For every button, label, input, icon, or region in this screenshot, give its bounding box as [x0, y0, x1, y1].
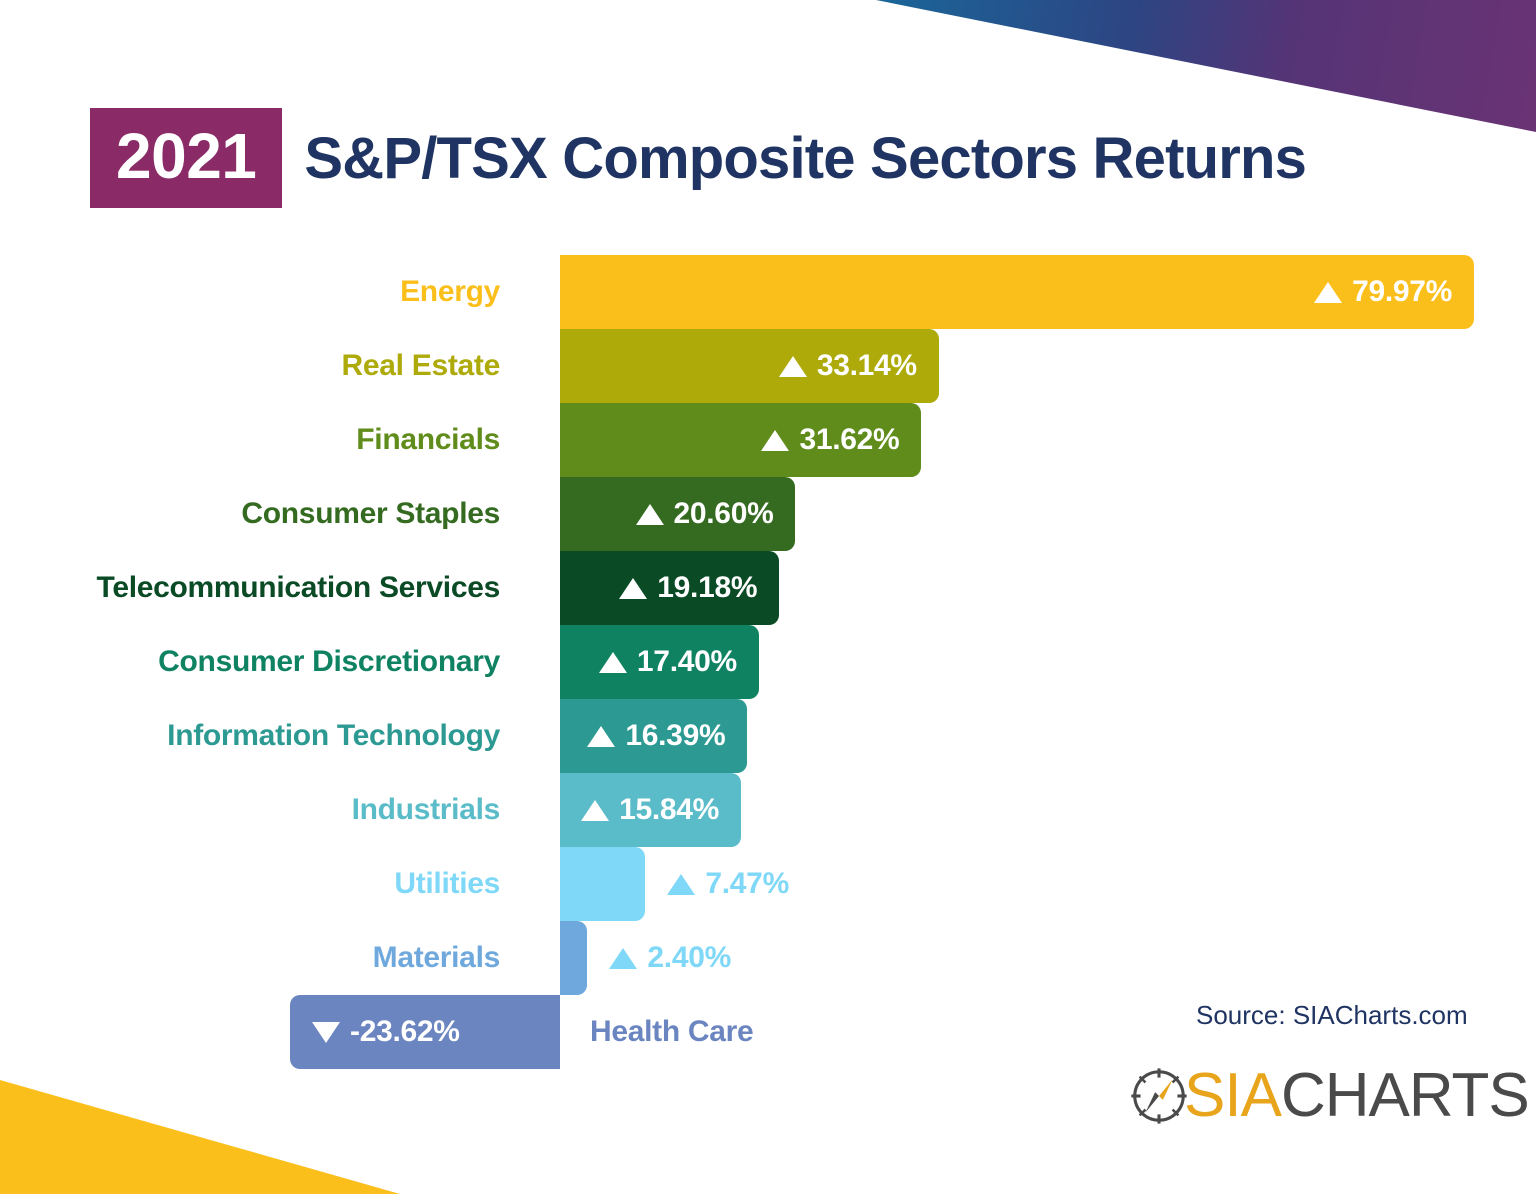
value-bar: 17.40%	[560, 625, 759, 699]
sector-label: Consumer Staples	[241, 477, 530, 551]
bar-row: Consumer Discretionary17.40%	[0, 625, 1536, 699]
bar-row: Real Estate33.14%	[0, 329, 1536, 403]
bar-row: Materials2.40%	[0, 921, 1536, 995]
logo-charts-text: CHARTS	[1281, 1065, 1529, 1127]
sector-label: Telecommunication Services	[97, 551, 530, 625]
triangle-up-icon	[636, 504, 664, 525]
value-text: 79.97%	[1352, 275, 1452, 309]
triangle-up-icon	[779, 356, 807, 377]
siacharts-logo: SIA CHARTS	[1128, 1062, 1529, 1130]
value-text: 17.40%	[637, 645, 737, 679]
value-label: 20.60%	[614, 497, 796, 531]
value-label: 79.97%	[1292, 275, 1474, 309]
value-bar: 33.14%	[560, 329, 939, 403]
year-badge: 2021	[90, 108, 282, 208]
triangle-up-icon	[619, 578, 647, 599]
source-attribution: Source: SIACharts.com	[1196, 1000, 1468, 1031]
bottom-left-yellow-decoration	[0, 1080, 400, 1194]
sector-label: Real Estate	[342, 329, 530, 403]
triangle-up-icon	[1314, 282, 1342, 303]
compass-icon	[1128, 1065, 1190, 1127]
sector-label: Energy	[400, 255, 530, 329]
triangle-up-icon	[599, 652, 627, 673]
triangle-up-icon	[761, 430, 789, 451]
triangle-up-icon	[609, 948, 637, 969]
bar-row: Financials31.62%	[0, 403, 1536, 477]
value-text: 33.14%	[817, 349, 917, 383]
triangle-up-icon	[667, 874, 695, 895]
sector-label: Financials	[356, 403, 530, 477]
infographic-canvas: 2021 S&P/TSX Composite Sectors Returns E…	[0, 0, 1536, 1194]
value-text: 7.47%	[705, 867, 789, 901]
value-text: 31.62%	[799, 423, 899, 457]
value-label: 2.40%	[609, 921, 731, 995]
title-text: S&P/TSX Composite Sectors Returns	[304, 125, 1306, 192]
value-text: -23.62%	[350, 1015, 460, 1049]
value-bar: 20.60%	[560, 477, 795, 551]
bar-row: Industrials15.84%	[0, 773, 1536, 847]
triangle-down-icon	[312, 1022, 340, 1043]
bar-row: Energy79.97%	[0, 255, 1536, 329]
logo-sia-text: SIA	[1184, 1065, 1281, 1127]
value-label: 33.14%	[757, 349, 939, 383]
value-label: 19.18%	[597, 571, 779, 605]
value-label: 17.40%	[577, 645, 759, 679]
sector-label: Health Care	[560, 995, 753, 1069]
value-text: 16.39%	[625, 719, 725, 753]
bar-row: Telecommunication Services19.18%	[0, 551, 1536, 625]
page-title: 2021 S&P/TSX Composite Sectors Returns	[90, 108, 1306, 208]
value-label: 15.84%	[559, 793, 741, 827]
value-bar: 19.18%	[560, 551, 779, 625]
value-label: 16.39%	[565, 719, 747, 753]
sector-label: Information Technology	[167, 699, 530, 773]
value-bar: 31.62%	[560, 403, 921, 477]
sector-label: Materials	[373, 921, 530, 995]
value-label: 7.47%	[667, 847, 789, 921]
value-label: 31.62%	[739, 423, 921, 457]
sector-returns-bar-chart: Energy79.97%Real Estate33.14%Financials3…	[0, 255, 1536, 1069]
bar-row: Consumer Staples20.60%	[0, 477, 1536, 551]
triangle-up-icon	[587, 726, 615, 747]
value-bar: -23.62%	[290, 995, 560, 1069]
sector-label: Utilities	[394, 847, 530, 921]
value-text: 20.60%	[674, 497, 774, 531]
value-label: -23.62%	[290, 1015, 482, 1049]
value-bar: 15.84%	[560, 773, 741, 847]
sector-label: Consumer Discretionary	[158, 625, 530, 699]
sector-label: Industrials	[352, 773, 530, 847]
value-bar: 16.39%	[560, 699, 747, 773]
value-text: 2.40%	[647, 941, 731, 975]
bar-row: Utilities7.47%	[0, 847, 1536, 921]
value-bar: 79.97%	[560, 255, 1474, 329]
value-text: 19.18%	[657, 571, 757, 605]
triangle-up-icon	[581, 800, 609, 821]
value-bar	[560, 847, 645, 921]
value-bar	[560, 921, 587, 995]
value-text: 15.84%	[619, 793, 719, 827]
bar-row: Information Technology16.39%	[0, 699, 1536, 773]
